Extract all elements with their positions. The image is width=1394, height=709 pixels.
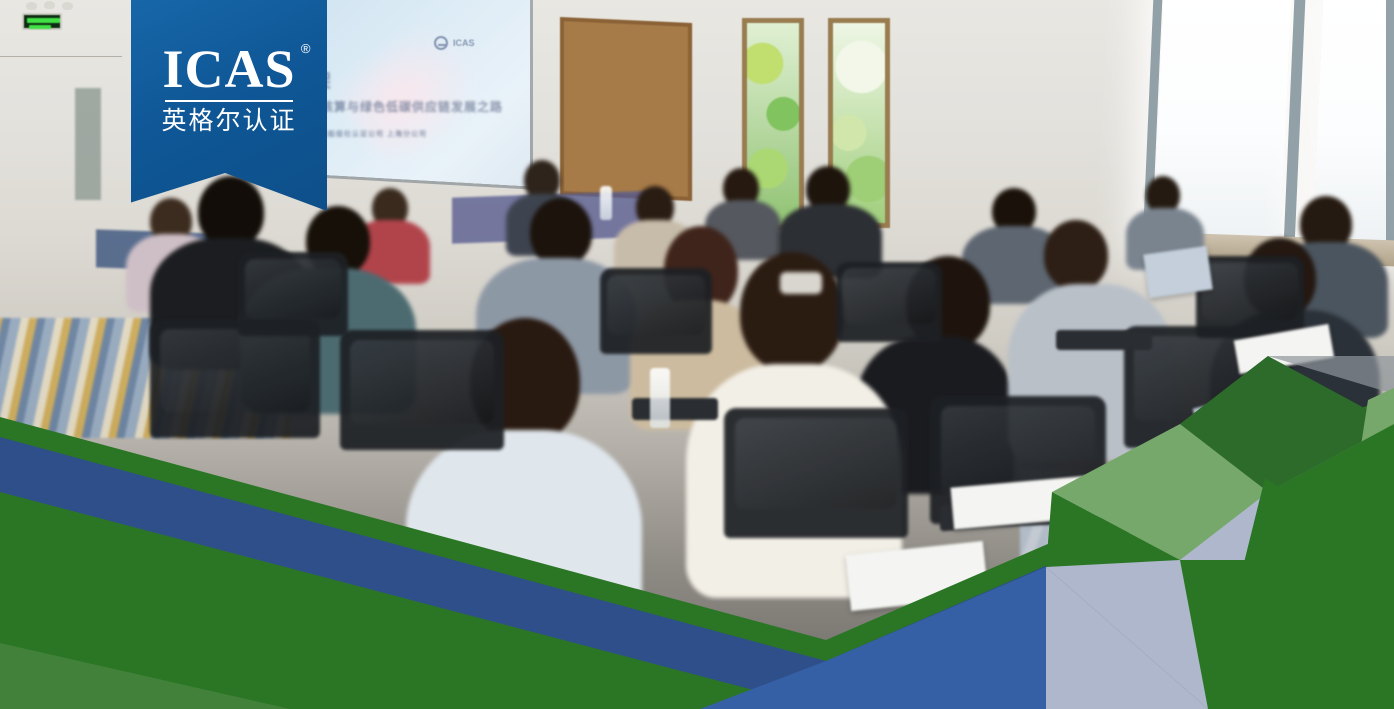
marketing-banner: 架 碳核算与绿色低碳供应链发展之路 中国船级社认证公司 上海分公司 ICAS xyxy=(0,0,1394,709)
icas-logo-lockup: ICAS® 英格尔认证 xyxy=(131,42,327,135)
logo-divider-rule xyxy=(165,100,293,102)
icas-chinese-name: 英格尔认证 xyxy=(131,107,327,135)
registered-trademark-icon: ® xyxy=(301,42,312,55)
icas-wordmark: ICAS® xyxy=(162,42,295,96)
